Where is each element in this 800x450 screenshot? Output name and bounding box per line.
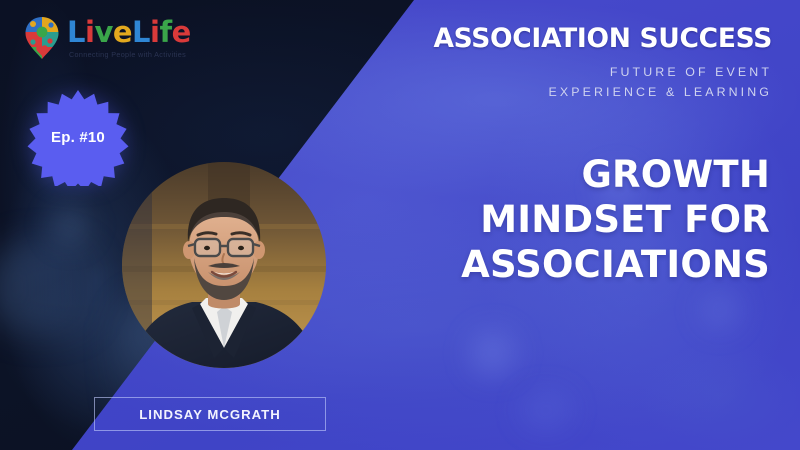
- episode-title: GROWTH MINDSET FOR ASSOCIATIONS: [350, 152, 770, 287]
- episode-title-line-3: ASSOCIATIONS: [350, 242, 770, 287]
- logo-tagline: Connecting People with Activities: [69, 51, 191, 58]
- show-brand-header: ASSOCIATION SUCCESS FUTURE OF EVENT EXPE…: [392, 26, 772, 102]
- podcast-episode-thumbnail: LiveLife Connecting People with Activiti…: [0, 0, 800, 450]
- show-subtitle-line-2: EXPERIENCE & LEARNING: [392, 82, 772, 102]
- episode-title-line-1: GROWTH: [350, 152, 770, 197]
- bokeh-dot: [520, 390, 572, 430]
- episode-number-badge: Ep. #10: [24, 88, 132, 186]
- show-subtitle: FUTURE OF EVENT EXPERIENCE & LEARNING: [392, 62, 772, 103]
- logo-wordmark: LiveLife: [67, 18, 191, 47]
- livelife-puzzle-pin-icon: [24, 16, 60, 60]
- speaker-nameplate: LINDSAY MCGRATH: [94, 397, 326, 431]
- bokeh-dot: [470, 330, 516, 376]
- speaker-portrait: [122, 162, 326, 368]
- livelife-logo[interactable]: LiveLife Connecting People with Activiti…: [24, 16, 191, 60]
- show-subtitle-line-1: FUTURE OF EVENT: [392, 62, 772, 82]
- episode-number-label: Ep. #10: [24, 88, 132, 186]
- speaker-name: LINDSAY MCGRATH: [139, 407, 281, 422]
- background-blur-highlight: [40, 195, 100, 255]
- bokeh-dot: [700, 290, 740, 330]
- show-title: ASSOCIATION SUCCESS: [392, 26, 772, 53]
- episode-title-line-2: MINDSET FOR: [350, 197, 770, 242]
